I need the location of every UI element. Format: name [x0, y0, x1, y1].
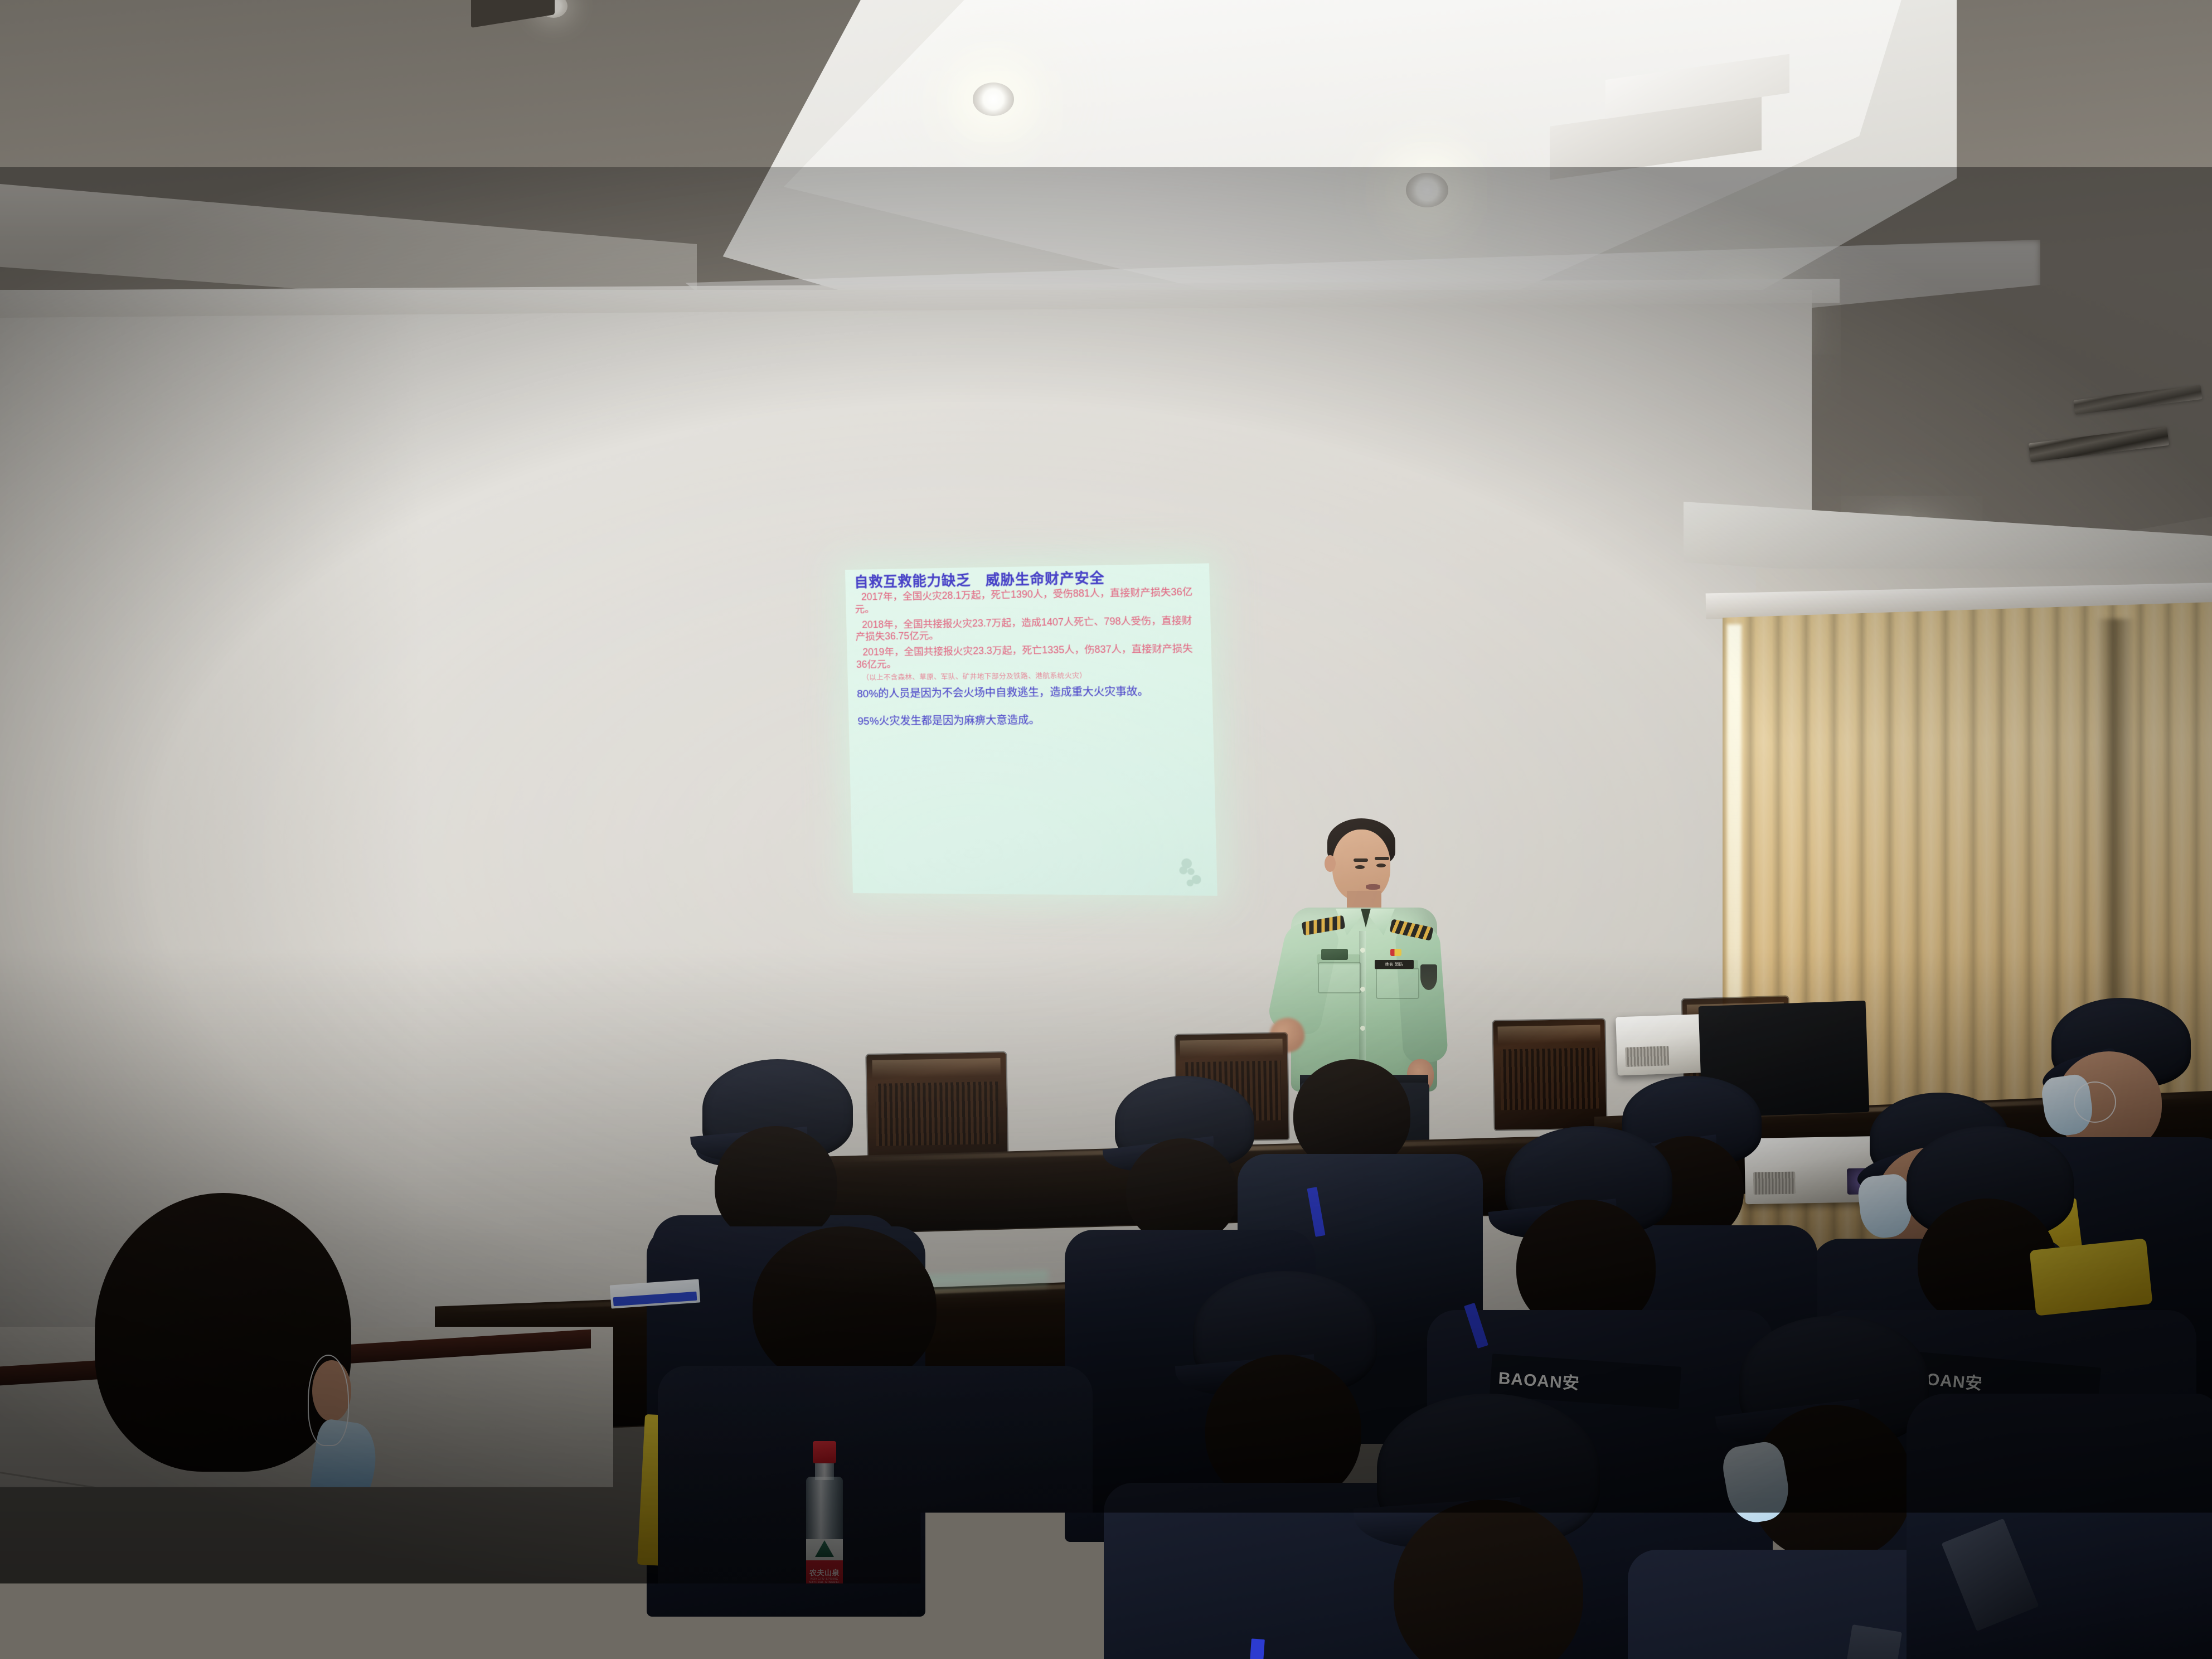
chair-slats [875, 1081, 999, 1146]
slide-emphasis-95: 95%火灾发生都是因为麻痹大意造成。 [857, 713, 1205, 729]
chair-highlight [872, 1058, 1001, 1078]
downlight-1 [973, 83, 1014, 116]
conference-room-photo: 自救互救能力缺乏威胁生命财产安全 2017年，全国火灾28.1万起，死亡1390… [0, 0, 2212, 1659]
mask-strap [308, 1355, 349, 1446]
presenter-button-3 [1360, 1026, 1365, 1031]
presenter-chest-emblem [1321, 949, 1348, 960]
slide-paragraph-2018: 2018年，全国共接报火灾23.7万起，造成1407人死亡、798人受伤，直接财… [855, 614, 1203, 643]
chair-empty-3 [1493, 1019, 1606, 1129]
presenter-brow-left [1354, 858, 1368, 862]
duty-armband [664, 1587, 754, 1659]
presenter-button-2 [1360, 987, 1365, 992]
head [1126, 1138, 1238, 1244]
presenter-ear [1325, 855, 1336, 872]
downlight-2 [1406, 173, 1448, 207]
presenter-flag-pin [1390, 949, 1401, 956]
slide-title-right: 威胁生命财产安全 [986, 570, 1105, 588]
presenter-button-1 [1360, 948, 1365, 953]
slide-footnote: （以上不含森林、草原、军队、矿井地下部分及铁路、港航系统火灾） [862, 671, 1204, 682]
chair-slats [1500, 1047, 1599, 1110]
bottle-volume: NATURAL MINERAL WATER [806, 1581, 843, 1588]
slide-body: 2017年，全国火灾28.1万起，死亡1390人，受伤881人，直接财产损失36… [855, 586, 1205, 729]
wall-left-shading [0, 290, 424, 1349]
slide-paragraph-2017: 2017年，全国火灾28.1万起，死亡1390人，受伤881人，直接财产损失36… [855, 586, 1202, 615]
projected-slide: 自救互救能力缺乏威胁生命财产安全 2017年，全国火灾28.1万起，死亡1390… [845, 563, 1217, 895]
bottle-brand-cn: 农夫山泉 [806, 1567, 843, 1578]
chair-highlight [1180, 1039, 1283, 1058]
presenter-name-badge: 姓名 消防 [1375, 960, 1414, 969]
presenter-eye-left [1355, 865, 1365, 869]
head [715, 1126, 837, 1243]
water-bottle: 农夫山泉 NONGFU SPRING NATURAL MINERAL WATER [802, 1441, 847, 1631]
mask-strap [2074, 1081, 2116, 1123]
bottle-neck [815, 1461, 834, 1480]
slide-paragraph-2019: 2019年，全国共接报火灾23.3万起，死亡1335人，伤837人，直接财产损失… [856, 642, 1204, 671]
head [753, 1226, 937, 1388]
presenter-name-badge-text: 姓名 消防 [1385, 962, 1403, 967]
slide-emphasis-80: 80%的人员是因为不会火场中自救逃生，造成重大火灾事故。 [857, 685, 1204, 702]
presenter-pocket-left [1318, 962, 1361, 993]
sweater [67, 1539, 457, 1659]
presenter-pocket-right [1376, 968, 1419, 999]
presenter-brow-right [1375, 857, 1389, 860]
projector-vent [1626, 1046, 1670, 1067]
bottle-cap [813, 1441, 836, 1463]
bottle-label-lower: 农夫山泉 NONGFU SPRING NATURAL MINERAL WATER [806, 1560, 843, 1597]
duty-armband [2029, 1238, 2152, 1316]
torso [1907, 1394, 2212, 1659]
presenter-mouth [1366, 884, 1380, 890]
projector-vent [1753, 1172, 1796, 1195]
chair-highlight [1497, 1025, 1600, 1044]
presenter-eye-right [1376, 864, 1386, 867]
chair-empty-1 [866, 1052, 1007, 1166]
presenter-shoulder-patch [1420, 964, 1437, 990]
slide-title-left: 自救互救能力缺乏 [854, 573, 971, 590]
slide-watermark-icon [1177, 856, 1209, 890]
